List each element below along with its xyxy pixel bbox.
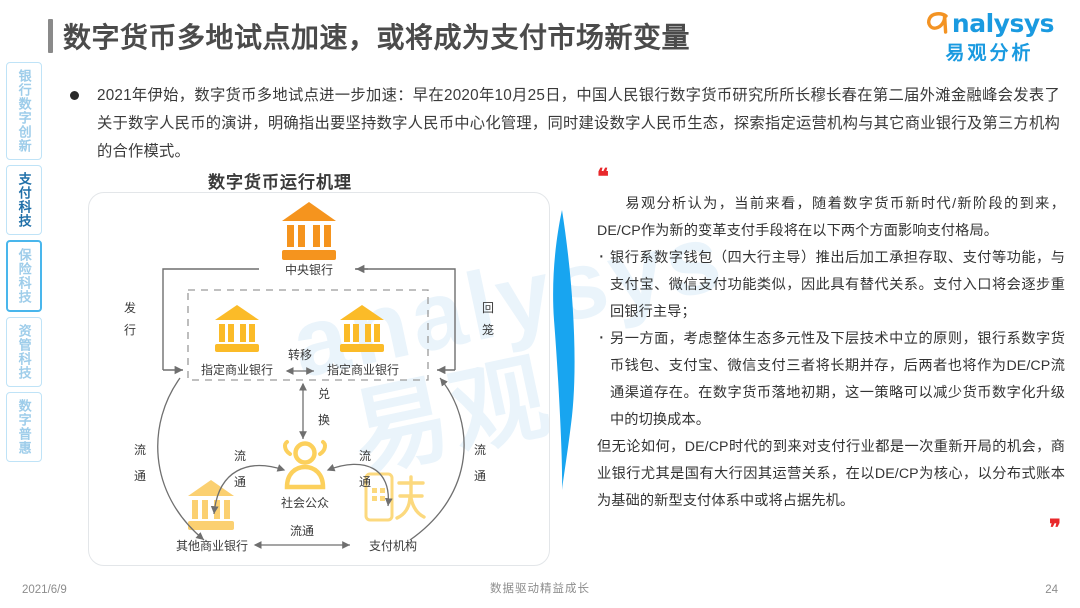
edge-label-circulate-bottom: 流通 [290, 524, 314, 538]
sidebar-item-label: 数字普惠 [16, 399, 31, 455]
list-item: 另一方面，考虑整体生态多元性及下层技术中立的原则，银行系数字货币钱包、支付宝、微… [597, 326, 1065, 434]
node-label-payment-organization: 支付机构 [369, 538, 417, 553]
intro-bullet-text: 2021年伊始，数字货币多地试点进一步加速：早在2020年10月25日，中国人民… [97, 82, 1060, 166]
edge-label-circulate-left-char1: 流 [134, 443, 146, 457]
designated-bank-right-icon [340, 305, 384, 352]
designated-bank-left-icon [215, 305, 259, 352]
quote-close-icon: ❞ [597, 517, 1065, 539]
bullet-dot-icon [70, 91, 79, 100]
sidebar-item-bank-digital-innovation[interactable]: 银行数字创新 [6, 62, 42, 160]
sidebar-item-label: 资管科技 [16, 324, 31, 380]
sidebar-item-label: 保险科技 [16, 248, 31, 304]
node-label-central-bank: 中央银行 [285, 262, 333, 277]
node-label-designated-bank-right: 指定商业银行 [327, 362, 399, 377]
quote-open-icon: ❝ [597, 166, 1065, 188]
edge-label-circulate-right-char1: 流 [474, 443, 486, 457]
payment-organization-icon [366, 474, 424, 520]
node-label-designated-bank-left: 指定商业银行 [201, 362, 273, 377]
blue-lens-divider [548, 210, 582, 495]
slide-root: analysys 易观 nalysys 易观分析 数字货币多地试点加速，或将成为… [0, 0, 1080, 608]
brand-logo: nalysys 易观分析 [925, 10, 1054, 65]
sidebar-item-digital-inclusive-finance[interactable]: 数字普惠 [6, 392, 42, 462]
digital-currency-flow-diagram: 中央银行 发 行 回 笼 指定商业银行 [88, 192, 548, 564]
edge-label-issue-char1: 发 [124, 300, 136, 315]
diagram-title: 数字货币运行机理 [0, 168, 560, 193]
edge-label-exchange-char1: 兑 [318, 387, 330, 401]
footer-tagline: 数据驱动精益成长 [0, 580, 1080, 596]
edge-label-circulate-right-char2: 通 [474, 469, 486, 483]
edge-label-circulate-left-char2: 通 [134, 469, 146, 483]
commentary-points-list: 银行系数字钱包（四大行主导）推出后加工承担存取、支付等功能，与支付宝、微信支付功… [597, 245, 1065, 434]
edge-label-circulate-public-right-char2: 通 [359, 475, 371, 489]
page-title: 数字货币多地试点加速，或将成为支付市场新变量 [48, 16, 690, 56]
title-accent-bar [48, 19, 53, 53]
intro-bullet: 2021年伊始，数字货币多地试点进一步加速：早在2020年10月25日，中国人民… [70, 82, 1060, 166]
node-label-public: 社会公众 [281, 495, 329, 510]
commentary-closing: 但无论如何，DE/CP时代的到来对支付行业都是一次重新开局的机会，商业银行尤其是… [597, 434, 1065, 515]
logo-wordmark: nalysys [952, 11, 1054, 36]
sidebar-item-asset-management-tech[interactable]: 资管科技 [6, 317, 42, 387]
edge-label-withdraw-char2: 笼 [482, 322, 494, 337]
commentary-intro: 易观分析认为，当前来看，随着数字货币新时代/新阶段的到来，DE/CP作为新的变革… [597, 191, 1065, 245]
edge-label-circulate-public-right-char1: 流 [359, 449, 371, 463]
edge-label-circulate-public-left-char2: 通 [234, 475, 246, 489]
list-item: 银行系数字钱包（四大行主导）推出后加工承担存取、支付等功能，与支付宝、微信支付功… [597, 245, 1065, 326]
logo-row: nalysys [925, 10, 1054, 36]
analysys-a-icon [925, 10, 951, 36]
edge-label-transfer: 转移 [288, 347, 312, 362]
edge-label-exchange-char2: 换 [318, 413, 330, 427]
logo-chinese-name: 易观分析 [925, 38, 1054, 65]
sidebar: 银行数字创新 支付科技 保险科技 资管科技 数字普惠 [6, 62, 42, 467]
node-label-other-commercial-bank: 其他商业银行 [176, 538, 248, 553]
commentary-panel: ❝ 易观分析认为，当前来看，随着数字货币新时代/新阶段的到来，DE/CP作为新的… [597, 166, 1065, 539]
edge-label-withdraw-char1: 回 [482, 301, 494, 315]
footer-page-number: 24 [1045, 584, 1058, 596]
public-person-icon [285, 442, 325, 487]
central-bank-icon [282, 202, 336, 260]
sidebar-item-label: 银行数字创新 [16, 69, 31, 153]
sidebar-item-insurance-tech[interactable]: 保险科技 [6, 240, 42, 312]
other-commercial-bank-icon [188, 480, 234, 530]
title-text: 数字货币多地试点加速，或将成为支付市场新变量 [63, 16, 690, 56]
edge-label-circulate-public-left-char1: 流 [234, 449, 246, 463]
edge-label-issue-char2: 行 [124, 323, 136, 337]
